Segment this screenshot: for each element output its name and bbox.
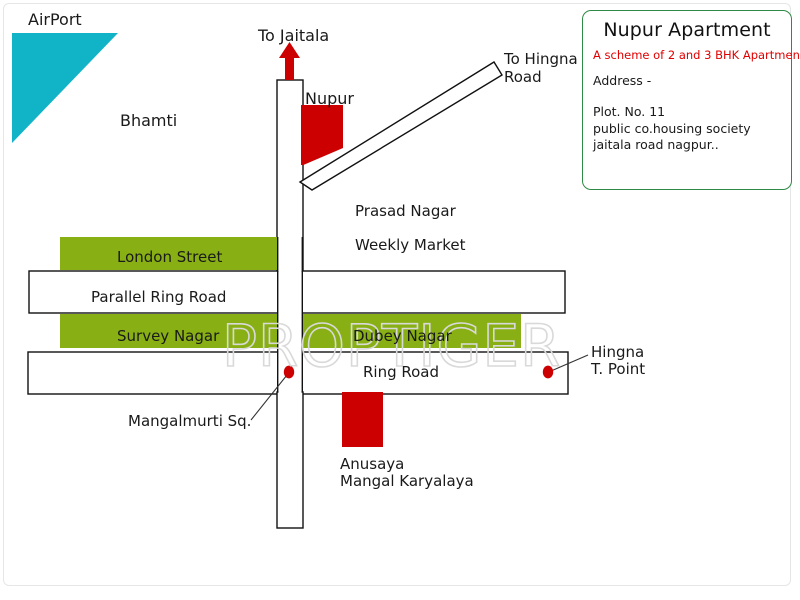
vertical-road-bottom	[277, 392, 303, 528]
label-to-jaitala: To Jaitala	[258, 26, 329, 46]
to-jaitala-arrow	[279, 42, 300, 80]
address-label: Address -	[593, 73, 781, 88]
label-bhamti: Bhamti	[120, 111, 177, 131]
label-to-hingna-road-line2: Road	[504, 68, 542, 87]
label-to-hingna-road-line1: To Hingna	[504, 50, 578, 69]
label-london-street: London Street	[117, 248, 222, 267]
label-prasad-nagar: Prasad Nagar	[355, 202, 456, 221]
project-title: Nupur Apartment	[593, 19, 781, 41]
nupur-building-block	[301, 105, 343, 166]
label-mangalmurti-sq: Mangalmurti Sq.	[128, 412, 251, 431]
project-info-card: Nupur Apartment A scheme of 2 and 3 BHK …	[582, 10, 792, 190]
label-nupur: Nupur	[305, 89, 354, 109]
label-weekly-market: Weekly Market	[355, 236, 465, 255]
label-dubey-nagar: Dubey Nagar	[353, 327, 452, 346]
label-survey-nagar: Survey Nagar	[117, 327, 219, 346]
label-airport: AirPort	[28, 10, 82, 30]
label-parallel-ring-road: Parallel Ring Road	[91, 288, 226, 307]
address-line-2: public co.housing society	[593, 121, 781, 138]
address-line-1: Plot. No. 11	[593, 104, 781, 121]
anusaya-mangal-karyalaya-block	[342, 392, 383, 447]
label-hingna-t-point-line2: T. Point	[591, 360, 645, 379]
location-map-page: PROPTIGER AirPort Bhamti To Jaitala Nupu…	[0, 0, 800, 600]
address-line-3: jaitala road nagpur..	[593, 137, 781, 154]
airport-shape	[12, 33, 118, 143]
project-scheme: A scheme of 2 and 3 BHK Apartment	[593, 48, 781, 62]
label-anusaya-line2: Mangal Karyalaya	[340, 472, 474, 491]
label-ring-road: Ring Road	[363, 363, 439, 382]
